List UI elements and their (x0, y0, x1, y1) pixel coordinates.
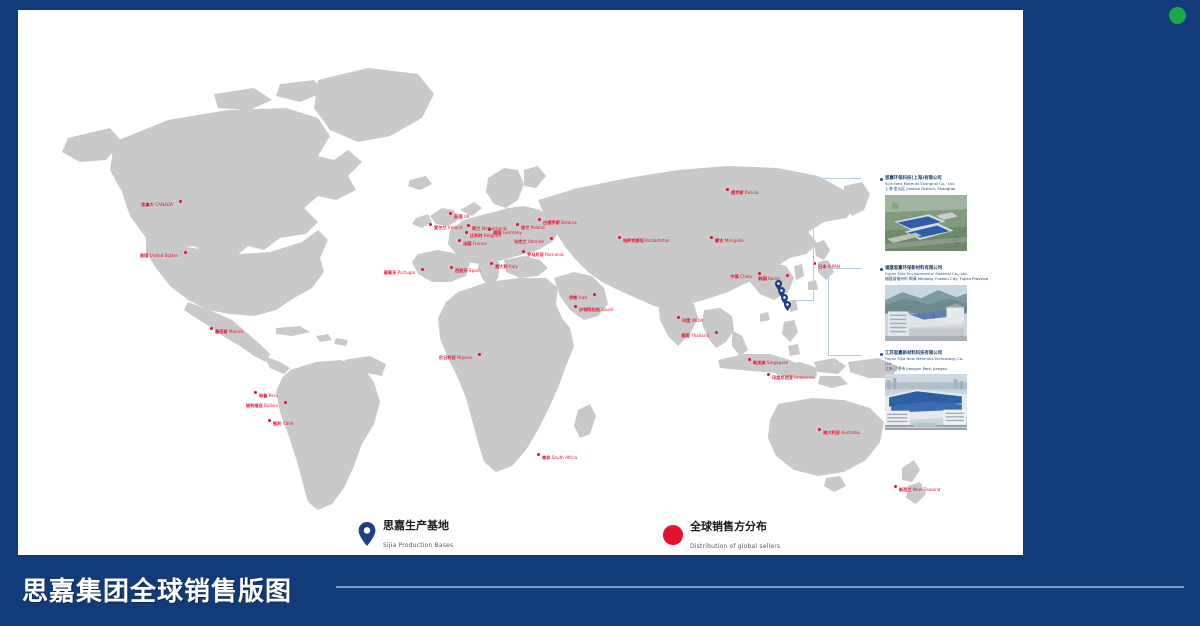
seller-dot-icon (715, 331, 718, 334)
callout-shanghai[interactable]: 思嘉环保科技(上海)有限公司 Sijia New Material Shangh… (880, 176, 972, 251)
seller-dot-icon (210, 327, 213, 330)
seller-label-cn: 葡萄牙 (384, 270, 397, 275)
seller-label-cn: 沙特阿拉伯 (579, 307, 600, 312)
legend-label-cn: 全球销售方分布 (690, 520, 767, 533)
seller-label: 美国 United States (140, 253, 178, 258)
seller-label-en: Thailand (691, 333, 709, 338)
seller-label: 南非 South Africa (542, 455, 577, 460)
seller-label-en: Saudi (601, 307, 613, 312)
callout-address: 江苏·江阴市 Jiangyin Park, Jiangsu (885, 367, 972, 372)
seller-label-cn: 波兰 (521, 225, 529, 230)
seller-label: 白俄罗斯 Belarus (543, 220, 577, 225)
seller-dot-icon (254, 391, 257, 394)
seller-label: 波兰 Poland (521, 225, 545, 230)
seller-dot-icon (421, 268, 424, 271)
seller-label-cn: 智利 (273, 421, 281, 426)
callout-photo-hillside-campus (885, 285, 967, 341)
slide-frame: 加拿大 CANADA美国 United States墨西哥 Mexico秘鲁 P… (0, 0, 1200, 626)
seller-label-en: Ukraine (528, 239, 544, 244)
seller-label: 英国 UK (454, 214, 470, 219)
seller-label-cn: 西班牙 (455, 268, 468, 273)
seller-label-en: Indonesia (794, 375, 814, 380)
callout-bullet-icon (880, 268, 883, 271)
seller-label-cn: 荷兰 (472, 226, 480, 231)
connector-to-callout-1 (813, 178, 861, 179)
seller-dot-icon (574, 305, 577, 308)
seller-label-en: Romania (545, 252, 563, 257)
connector-vertical-2 (828, 268, 829, 300)
seller-dot-icon (593, 293, 596, 296)
seller-label-cn: 墨西哥 (215, 329, 228, 334)
seller-dot-icon (184, 251, 187, 254)
legend-item-global-sellers[interactable]: 全球销售方分布 Distribution of global sellers (663, 517, 780, 553)
seller-dot-icon (467, 224, 470, 227)
seller-dot-icon (748, 358, 751, 361)
seller-label-en: Australia (841, 430, 860, 435)
seller-label-en: South Africa (552, 455, 577, 460)
seller-label-cn: 中国 (730, 274, 738, 279)
seller-dot-icon (677, 316, 680, 319)
seller-label-en: INDIA (692, 318, 704, 323)
map-pin-icon (358, 522, 376, 546)
seller-label: 意大利 Italy (495, 264, 518, 269)
callout-bullet-icon (880, 178, 883, 181)
seller-label: 中国 China (730, 274, 752, 279)
seller-label: 爱尔兰 Ireland (434, 225, 462, 230)
seller-dot-icon (550, 237, 553, 240)
page-title: 思嘉集团全球销售版图 (22, 571, 292, 608)
seller-label-cn: 罗马尼亚 (527, 252, 544, 257)
seller-dot-icon (522, 250, 525, 253)
seller-label-cn: 印度尼西亚 (772, 375, 793, 380)
connector-vertical-3 (828, 300, 829, 355)
red-circle-icon (663, 525, 683, 545)
callout-photo-large-plant (885, 374, 967, 430)
seller-label: 尼日利亚 Nigeria (439, 355, 472, 360)
seller-label: 葡萄牙 Portugal (384, 270, 415, 275)
seller-label: 蒙古 Mongolia (715, 238, 744, 243)
seller-label: 印度尼西亚 Indonesia (772, 375, 815, 380)
seller-label-en: Portugal (398, 270, 415, 275)
seller-label-en: Mongolia (725, 238, 744, 243)
callout-bullet-icon (880, 353, 883, 356)
slide-footer: 思嘉集团全球销售版图 (0, 562, 1200, 626)
connector-to-callout-3 (828, 355, 861, 356)
seller-label-cn: 俄罗斯 (731, 190, 744, 195)
callout-address: 福建省福州市·闽清 Minqing, Fuzhou City, Fujian P… (885, 277, 988, 282)
seller-label: 新加坡 Singapore (753, 360, 788, 365)
seller-dot-icon (449, 212, 452, 215)
seller-label-en: China (740, 274, 752, 279)
seller-label: 秘鲁 Peru (259, 393, 278, 398)
seller-label-en: New Zealand (913, 487, 941, 492)
seller-label-cn: 法国 (463, 241, 471, 246)
seller-label-cn: 泰国 (681, 333, 689, 338)
seller-label-en: Mexico (229, 329, 244, 334)
seller-label-cn: 哈萨克斯坦 (623, 238, 644, 243)
seller-label-en: Poland (531, 225, 545, 230)
seller-label-cn: 印度 (682, 318, 690, 323)
seller-label-cn: 意大利 (495, 264, 508, 269)
seller-label: 玻利维亚 Bolivia (246, 403, 278, 408)
legend-label-en: Sijia Production Bases (383, 542, 453, 549)
legend-label-cn: 思嘉生产基地 (383, 519, 449, 532)
seller-label: 哈萨克斯坦 Kazakhstan (623, 238, 669, 243)
connector-vertical-main (813, 178, 814, 300)
seller-label-en: UK (464, 214, 470, 219)
seller-label-cn: 日本 (818, 264, 826, 269)
seller-label-cn: 玻利维亚 (246, 403, 263, 408)
seller-label-cn: 加拿大 (141, 202, 154, 207)
production-pin-4[interactable] (784, 301, 791, 311)
seller-dot-icon (767, 373, 770, 376)
seller-label-en: France (473, 241, 487, 246)
seller-dot-icon (538, 218, 541, 221)
seller-label: 泰国 Thailand (681, 333, 709, 338)
seller-label-en: Bolivia (264, 403, 278, 408)
seller-dot-icon (818, 428, 821, 431)
callout-fujian[interactable]: 福建思嘉环保新材料有限公司 Fujian Sijia Environmental… (880, 266, 972, 341)
seller-label: 罗马尼亚 Romania (527, 252, 563, 257)
seller-label-cn: 韩国 (758, 276, 766, 281)
seller-label: 沙特阿拉伯 Saudi (579, 307, 613, 312)
seller-label-cn: 白俄罗斯 (543, 220, 560, 225)
seller-label-cn: 新加坡 (753, 360, 766, 365)
seller-dot-icon (488, 228, 491, 231)
seller-dot-icon (478, 353, 481, 356)
seller-dot-icon (429, 223, 432, 226)
recording-dot-icon (1169, 7, 1186, 24)
seller-label: 伊朗 Iran (569, 295, 587, 300)
map-legend: 思嘉生产基地 Sijia Production Bases 全球销售方分布 Di… (358, 510, 798, 550)
seller-label-en: Belarus (561, 220, 577, 225)
seller-label-cn: 乌克兰 (514, 239, 527, 244)
seller-label-cn: 新西兰 (899, 487, 912, 492)
seller-label-en: Russia (745, 190, 758, 195)
seller-dot-icon (758, 272, 761, 275)
world-map-container: 加拿大 CANADA美国 United States墨西哥 Mexico秘鲁 P… (18, 10, 1023, 555)
seller-dot-icon (894, 485, 897, 488)
seller-label-cn: 伊朗 (569, 295, 577, 300)
seller-label: 墨西哥 Mexico (215, 329, 244, 334)
seller-label-en: Ireland (448, 225, 462, 230)
seller-label: 西班牙 Spain (455, 268, 481, 273)
seller-label: 智利 Chile (273, 421, 293, 426)
seller-label-cn: 德国 (493, 230, 501, 235)
seller-label: 乌克兰 Ukraine (514, 239, 544, 244)
seller-label-en: United States (150, 253, 178, 258)
seller-dot-icon (618, 236, 621, 239)
legend-label-en: Distribution of global sellers (690, 543, 780, 550)
connector-to-callout-2 (828, 268, 861, 269)
seller-label: 俄罗斯 Russia (731, 190, 758, 195)
slide-canvas: 加拿大 CANADA美国 United States墨西哥 Mexico秘鲁 P… (18, 10, 1023, 555)
seller-dot-icon (450, 266, 453, 269)
seller-dot-icon (458, 239, 461, 242)
seller-dot-icon (710, 236, 713, 239)
seller-label-en: Germany (503, 230, 522, 235)
seller-label-en: Spain (469, 268, 481, 273)
connector-pin-stub (790, 300, 814, 301)
seller-label-en: CANADA (155, 202, 173, 207)
seller-label-en: Chile (283, 421, 293, 426)
seller-label-cn: 美国 (140, 253, 148, 258)
seller-label-cn: 尼日利亚 (439, 355, 456, 360)
footer-divider (336, 586, 1184, 588)
seller-label-en: Iran (579, 295, 587, 300)
callout-address: 上海·金山区 Jinshan District, Shanghai (885, 187, 972, 192)
seller-label-cn: 澳大利亚 (823, 430, 840, 435)
seller-label-en: Kazakhstan (645, 238, 669, 243)
seller-dot-icon (284, 401, 287, 404)
seller-label-en: Nigeria (457, 355, 472, 360)
seller-label: 加拿大 CANADA (141, 202, 173, 207)
seller-dot-icon (179, 200, 182, 203)
seller-label-en: Italy (509, 264, 518, 269)
seller-label-en: Peru (269, 393, 278, 398)
seller-dot-icon (537, 453, 540, 456)
seller-label: 印度 INDIA (682, 318, 703, 323)
seller-label: 澳大利亚 Australia (823, 430, 860, 435)
seller-dot-icon (516, 223, 519, 226)
seller-label-cn: 蒙古 (715, 238, 723, 243)
seller-dot-icon (786, 274, 789, 277)
seller-dot-icon (465, 231, 468, 234)
world-map-shapes (18, 10, 1023, 555)
seller-dot-icon (268, 419, 271, 422)
seller-label-cn: 英国 (454, 214, 462, 219)
seller-dot-icon (490, 262, 493, 265)
seller-label-cn: 爱尔兰 (434, 225, 447, 230)
seller-label: 德国 Germany (493, 230, 522, 235)
seller-label: 新西兰 New Zealand (899, 487, 940, 492)
seller-label-cn: 秘鲁 (259, 393, 267, 398)
callout-jiangsu[interactable]: 江苏思嘉新材料科技有限公司 Fujian Sijia New Materials… (880, 351, 972, 430)
seller-label: 法国 France (463, 241, 487, 246)
legend-item-production-bases[interactable]: 思嘉生产基地 Sijia Production Bases (358, 516, 453, 552)
seller-label-en: Singapore (767, 360, 788, 365)
callout-photo-aerial-factory (885, 195, 967, 251)
seller-dot-icon (726, 188, 729, 191)
seller-label-cn: 比利时 (470, 233, 483, 238)
seller-label-cn: 南非 (542, 455, 550, 460)
